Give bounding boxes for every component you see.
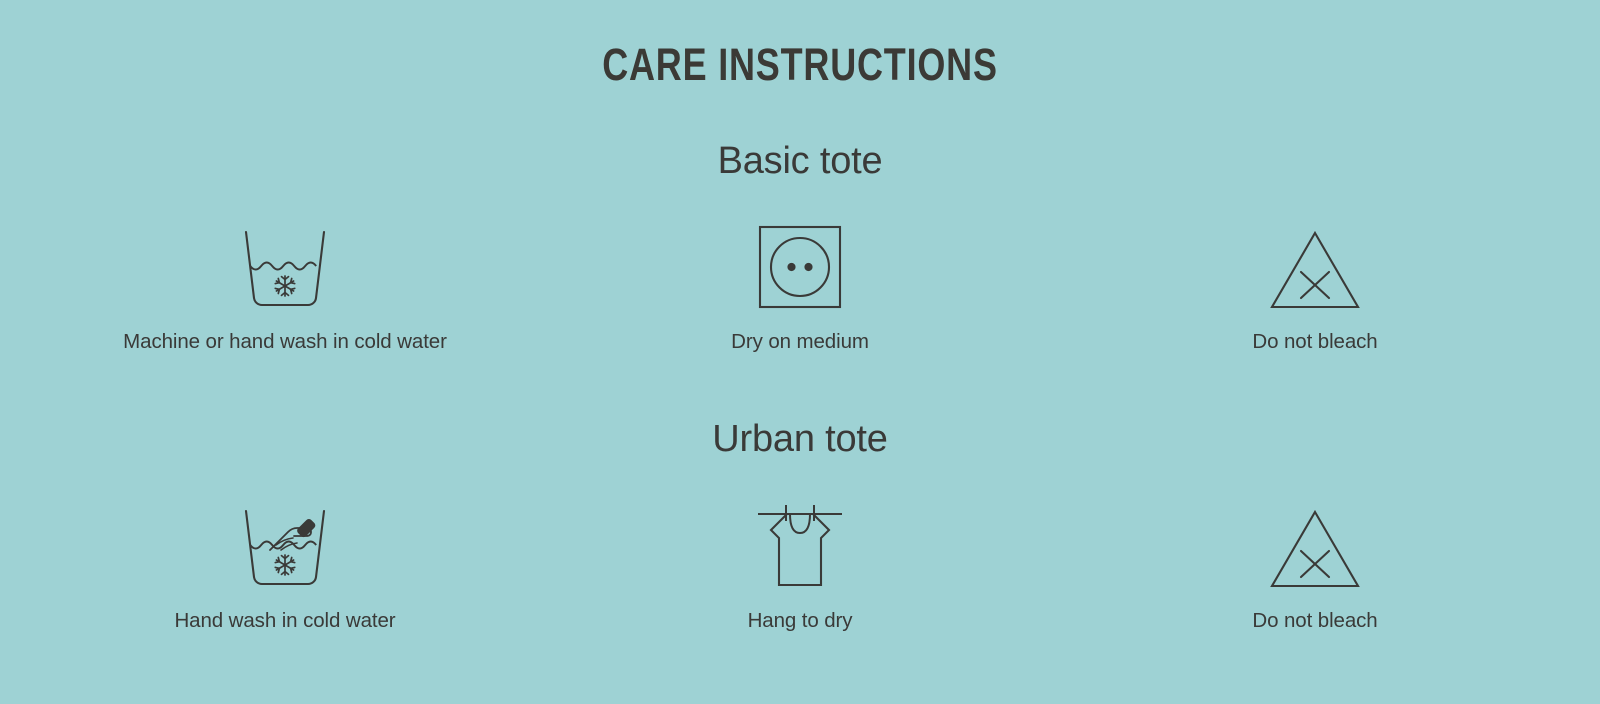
care-item-hang-to-dry: Hang to dry	[585, 497, 1015, 634]
care-icon-row-urban: Hand wash in cold water Hang to dry	[0, 497, 1600, 634]
page-title: CARE INSTRUCTIONS	[160, 40, 1440, 90]
care-item-do-not-bleach-urban: Do not bleach	[1100, 497, 1530, 634]
tumble-dry-medium-icon	[757, 218, 843, 310]
care-instructions-page: CARE INSTRUCTIONS Basic tote	[0, 0, 1600, 704]
wash-tub-cold-icon	[240, 218, 330, 310]
care-caption: Hand wash in cold water	[174, 609, 395, 634]
care-caption: Do not bleach	[1252, 330, 1377, 355]
do-not-bleach-icon	[1269, 497, 1361, 589]
care-caption: Do not bleach	[1252, 609, 1377, 634]
care-icon-row-basic: Machine or hand wash in cold water Dry o…	[0, 218, 1600, 355]
care-caption: Machine or hand wash in cold water	[123, 330, 447, 355]
hand-wash-cold-icon	[240, 497, 330, 589]
care-item-machine-or-hand-wash: Machine or hand wash in cold water	[70, 218, 500, 355]
do-not-bleach-icon	[1269, 218, 1361, 310]
care-item-hand-wash: Hand wash in cold water	[70, 497, 500, 634]
section-title-urban-tote: Urban tote	[0, 420, 1600, 458]
hang-to-dry-icon	[754, 497, 846, 589]
section-title-basic-tote: Basic tote	[0, 142, 1600, 180]
care-item-dry-on-medium: Dry on medium	[585, 218, 1015, 355]
care-caption: Dry on medium	[731, 330, 869, 355]
care-caption: Hang to dry	[748, 609, 853, 634]
care-item-do-not-bleach-basic: Do not bleach	[1100, 218, 1530, 355]
